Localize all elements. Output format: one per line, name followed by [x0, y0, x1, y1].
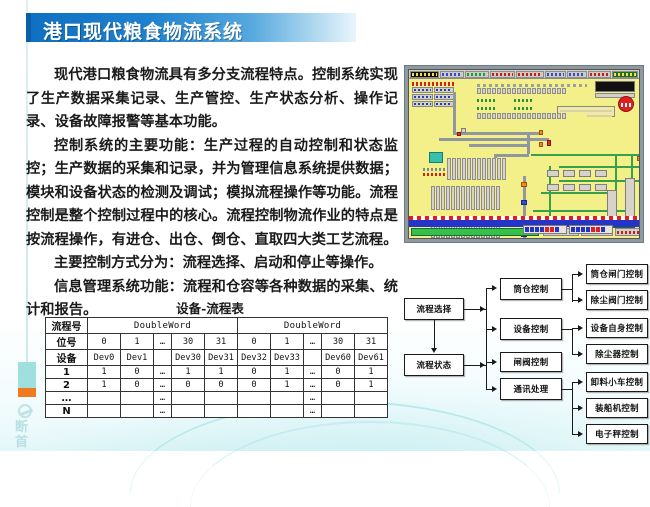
hmi-silo-bank-top: [477, 84, 587, 94]
flow-connector: [572, 328, 573, 354]
paragraph-2: 控制系统的主要功能：生产过程的自动控制和状态监控；生产数据的采集和记录，并为管理…: [26, 135, 398, 253]
hmi-machine: [595, 184, 607, 191]
hmi-button-row: [412, 94, 454, 100]
hmi-toolbar: [409, 70, 639, 79]
table-device-cell: Dev32: [238, 350, 271, 366]
hmi-toolbar-button[interactable]: [410, 71, 439, 78]
table-title: 设备-流程表: [40, 298, 380, 317]
hmi-valve-node: [521, 182, 527, 187]
hmi-tag-label: [514, 99, 534, 102]
table-row-id: 2: [46, 379, 88, 392]
hmi-tall-silo: [625, 178, 635, 218]
hmi-screenshot-panel: [404, 65, 644, 243]
table-value-cell: …: [154, 405, 172, 418]
flow-node-dust-valve[interactable]: 除尘阀门控制: [586, 290, 648, 310]
hmi-machine: [563, 170, 575, 177]
flow-arrow: [578, 271, 583, 277]
hmi-conveyor: [559, 166, 640, 168]
table-row: 210…0001…01: [46, 379, 388, 392]
table-value-cell: …: [304, 366, 322, 379]
flow-arrow: [578, 431, 583, 437]
table-value-cell: …: [154, 366, 172, 379]
hmi-button-row: [412, 87, 454, 93]
table-value-cell: 1: [172, 366, 205, 379]
hmi-tag-label: [514, 107, 534, 110]
flow-node-valve-control[interactable]: 闸阀控制: [500, 352, 562, 372]
hmi-machine: [547, 184, 559, 191]
flow-bus: [486, 288, 487, 390]
table-value-cell: [172, 405, 205, 418]
table-value-cell: 1: [88, 379, 121, 392]
hmi-conveyor: [533, 210, 633, 212]
table-group-header: DoubleWord: [238, 318, 388, 334]
flow-connector: [562, 329, 572, 330]
hmi-button-row: [412, 101, 454, 107]
hmi-alarm-indicator: [618, 96, 634, 112]
hmi-machine: [579, 184, 591, 191]
table-bit-row: 位号01…303101…3031: [46, 334, 388, 350]
hmi-bank-cells: [447, 158, 519, 180]
table-value-cell: …: [304, 392, 322, 405]
hmi-toolbar-button[interactable]: [440, 71, 464, 78]
hmi-status-cell: [615, 228, 640, 236]
table-value-cell: 0: [322, 366, 355, 379]
table-device-cell: Dev1: [121, 350, 154, 366]
hmi-alarm-node: [457, 132, 461, 136]
table-value-cell: 0: [121, 379, 154, 392]
table-bit-cell: 31: [205, 334, 238, 350]
table-row-label: 设备: [46, 350, 88, 366]
flow-arrow: [492, 359, 497, 365]
hmi-bank-cells: [431, 186, 519, 210]
flow-node-silo-control[interactable]: 筒仓控制: [500, 278, 562, 300]
flow-node-duster[interactable]: 除尘器控制: [586, 344, 648, 364]
table-device-cell: Dev31: [205, 350, 238, 366]
table-bit-cell: 31: [355, 334, 388, 350]
hmi-button: [412, 87, 433, 93]
hmi-button: [434, 101, 455, 107]
hmi-pipe: [494, 154, 529, 157]
table-value-cell: [88, 392, 121, 405]
hmi-ship-2: [569, 225, 613, 234]
table-device-cell: Dev33: [271, 350, 304, 366]
table-device-cell: Dev61: [355, 350, 388, 366]
hmi-silo-grid-2: [431, 186, 519, 210]
table-value-cell: [121, 405, 154, 418]
device-process-table: 流程号DoubleWordDoubleWord位号01…303101…3031设…: [45, 317, 388, 418]
hmi-toolbar-button[interactable]: [545, 71, 567, 78]
hmi-control-cluster: [412, 82, 454, 108]
table-value-cell: [205, 392, 238, 405]
hmi-machine: [563, 184, 575, 191]
hmi-bank-cells: [477, 113, 587, 119]
paragraph-3: 主要控制方式分为：流程选择、启动和停止等操作。: [26, 252, 398, 276]
hmi-button: [412, 94, 433, 100]
flow-arrow: [492, 386, 497, 392]
hmi-machine: [595, 170, 607, 177]
flow-connector: [562, 389, 572, 390]
control-flow-diagram: 流程选择 流程状态 筒仓控制 设备控制 闸阀控制 通讯处理 筒仓闸门控制 除尘阀…: [404, 276, 650, 444]
flow-connector: [562, 289, 572, 290]
flow-node-equipment-control[interactable]: 设备控制: [500, 318, 562, 340]
flow-arrow: [480, 362, 485, 368]
page-title-banner: 港口现代粮食物流系统: [26, 13, 356, 42]
hmi-pipe: [453, 92, 456, 134]
table-device-cell: [154, 350, 172, 366]
table-header-row: 流程号DoubleWordDoubleWord: [46, 318, 388, 334]
flow-node-unload-cart[interactable]: 卸料小车控制: [586, 372, 648, 392]
hmi-cluster-title: [412, 82, 454, 86]
table-value-cell: 1: [88, 366, 121, 379]
page-title: 港口现代粮食物流系统: [43, 17, 243, 44]
hmi-toolbar-button[interactable]: [490, 71, 516, 78]
hmi-bank-header: [477, 84, 587, 87]
rail-orange-block: [18, 388, 36, 397]
table-value-cell: [271, 392, 304, 405]
table-value-cell: 1: [271, 366, 304, 379]
table-row: N……: [46, 405, 388, 418]
table-value-cell: 0: [121, 366, 154, 379]
hmi-conveyor: [531, 154, 640, 156]
hmi-machine: [579, 170, 591, 177]
table-value-cell: [121, 392, 154, 405]
table-corner-label: 流程号: [46, 318, 88, 334]
hmi-button: [412, 101, 433, 107]
paragraph-1: 现代港口粮食物流具有多分支流程特点。控制系统实现了生产数据采集记录、生产管控、生…: [26, 64, 398, 135]
flow-arrow: [578, 351, 583, 357]
hmi-button: [434, 94, 455, 100]
hmi-valve-node: [637, 156, 640, 161]
hmi-display-readout: [595, 81, 635, 92]
flow-node-communication[interactable]: 通讯处理: [500, 378, 562, 400]
table-bit-cell: 30: [172, 334, 205, 350]
table-group-header: DoubleWord: [88, 318, 238, 334]
body-text: 现代港口粮食物流具有多分支流程特点。控制系统实现了生产数据采集记录、生产管控、生…: [26, 64, 398, 323]
hmi-pipe: [469, 144, 529, 147]
rail-cyan-block: [18, 362, 36, 388]
hmi-ship-1: [523, 225, 567, 234]
hmi-node: [461, 128, 466, 133]
table-bit-cell: 1: [121, 334, 154, 350]
table-value-cell: [238, 405, 271, 418]
table-value-cell: 0: [205, 379, 238, 392]
table-value-cell: 1: [355, 379, 388, 392]
flow-arrow: [431, 348, 437, 353]
flow-node-ship-loader[interactable]: 装船机控制: [586, 398, 648, 418]
flow-arrow: [492, 326, 497, 332]
table-device-cell: Dev30: [172, 350, 205, 366]
rail-ring-icon: [18, 404, 32, 418]
table-row: 110…1101…01: [46, 366, 388, 379]
hmi-alarm-node: [547, 140, 551, 146]
hmi-valve-node: [539, 130, 543, 135]
rail-vertical-text: 断首: [15, 420, 40, 450]
table-bit-cell: 0: [238, 334, 271, 350]
hmi-toolbar-button[interactable]: [612, 71, 638, 78]
table-value-cell: [88, 405, 121, 418]
banner-accent-bar: [26, 13, 31, 42]
table-value-cell: [355, 392, 388, 405]
table-row-id: …: [46, 392, 88, 405]
table-device-cell: [304, 350, 322, 366]
hmi-toolbar-button[interactable]: [588, 71, 612, 78]
table-value-cell: [322, 392, 355, 405]
table-value-cell: [172, 392, 205, 405]
table-device-row: 设备Dev0Dev1Dev30Dev31Dev32Dev33Dev60Dev61: [46, 350, 388, 366]
hmi-toolbar-button[interactable]: [567, 71, 587, 78]
flow-node-electronic-scale[interactable]: 电子秤控制: [586, 424, 648, 444]
hmi-pipe: [439, 138, 549, 141]
flow-node-process-status[interactable]: 流程状态: [404, 354, 464, 376]
table-row-label: 位号: [46, 334, 88, 350]
hmi-toolbar-button[interactable]: [465, 71, 489, 78]
table-bit-cell: …: [154, 334, 172, 350]
hmi-canvas: [408, 69, 640, 239]
hmi-bank-cells: [477, 88, 587, 94]
table-value-cell: …: [304, 379, 322, 392]
hmi-tag-label: [477, 99, 497, 102]
table-device-cell: Dev60: [322, 350, 355, 366]
hmi-pipe: [527, 132, 530, 154]
table-value-cell: [322, 405, 355, 418]
table-value-cell: 1: [205, 366, 238, 379]
table-row-id: 1: [46, 366, 88, 379]
table-value-cell: 1: [355, 366, 388, 379]
hmi-progress-bar: [411, 228, 539, 236]
table-bit-cell: 1: [271, 334, 304, 350]
flow-arrow: [578, 325, 583, 331]
flow-node-equipment-self[interactable]: 设备自身控制: [586, 318, 648, 338]
hmi-machine: [547, 170, 559, 177]
flow-arrow: [480, 306, 485, 312]
flow-arrow: [578, 297, 583, 303]
table-value-cell: 0: [172, 379, 205, 392]
flow-arrow: [578, 405, 583, 411]
table-value-cell: …: [304, 405, 322, 418]
table-value-cell: …: [154, 379, 172, 392]
table-bit-cell: 0: [88, 334, 121, 350]
hmi-conveyor: [541, 192, 611, 194]
table-value-cell: [205, 405, 238, 418]
hmi-valve-node: [521, 200, 527, 205]
hmi-valve-node: [539, 142, 543, 147]
table-device-cell: Dev0: [88, 350, 121, 366]
flow-connector: [572, 274, 573, 302]
table-value-cell: 0: [238, 366, 271, 379]
table-value-cell: 0: [322, 379, 355, 392]
flow-connector: [434, 320, 435, 348]
table-value-cell: 1: [271, 379, 304, 392]
flow-arrow: [578, 379, 583, 385]
hmi-silo-grid-1: [447, 158, 519, 180]
hmi-toolbar-button[interactable]: [516, 71, 544, 78]
table-value-cell: [355, 405, 388, 418]
hmi-tag-label: [477, 107, 497, 110]
hmi-silo-bank-top2: [477, 113, 587, 119]
hmi-teal-block: [429, 152, 443, 163]
table-bit-cell: …: [304, 334, 322, 350]
flow-node-silo-gate[interactable]: 筒仓闸门控制: [586, 264, 648, 284]
table-value-cell: [271, 405, 304, 418]
flow-arrow: [492, 285, 497, 291]
table-value-cell: [238, 392, 271, 405]
table-value-cell: 0: [238, 379, 271, 392]
table-row: ………: [46, 392, 388, 405]
table-value-cell: …: [154, 392, 172, 405]
table-bit-cell: 30: [322, 334, 355, 350]
flow-node-process-select[interactable]: 流程选择: [404, 298, 464, 320]
hmi-button: [434, 87, 455, 93]
table-row-id: N: [46, 405, 88, 418]
